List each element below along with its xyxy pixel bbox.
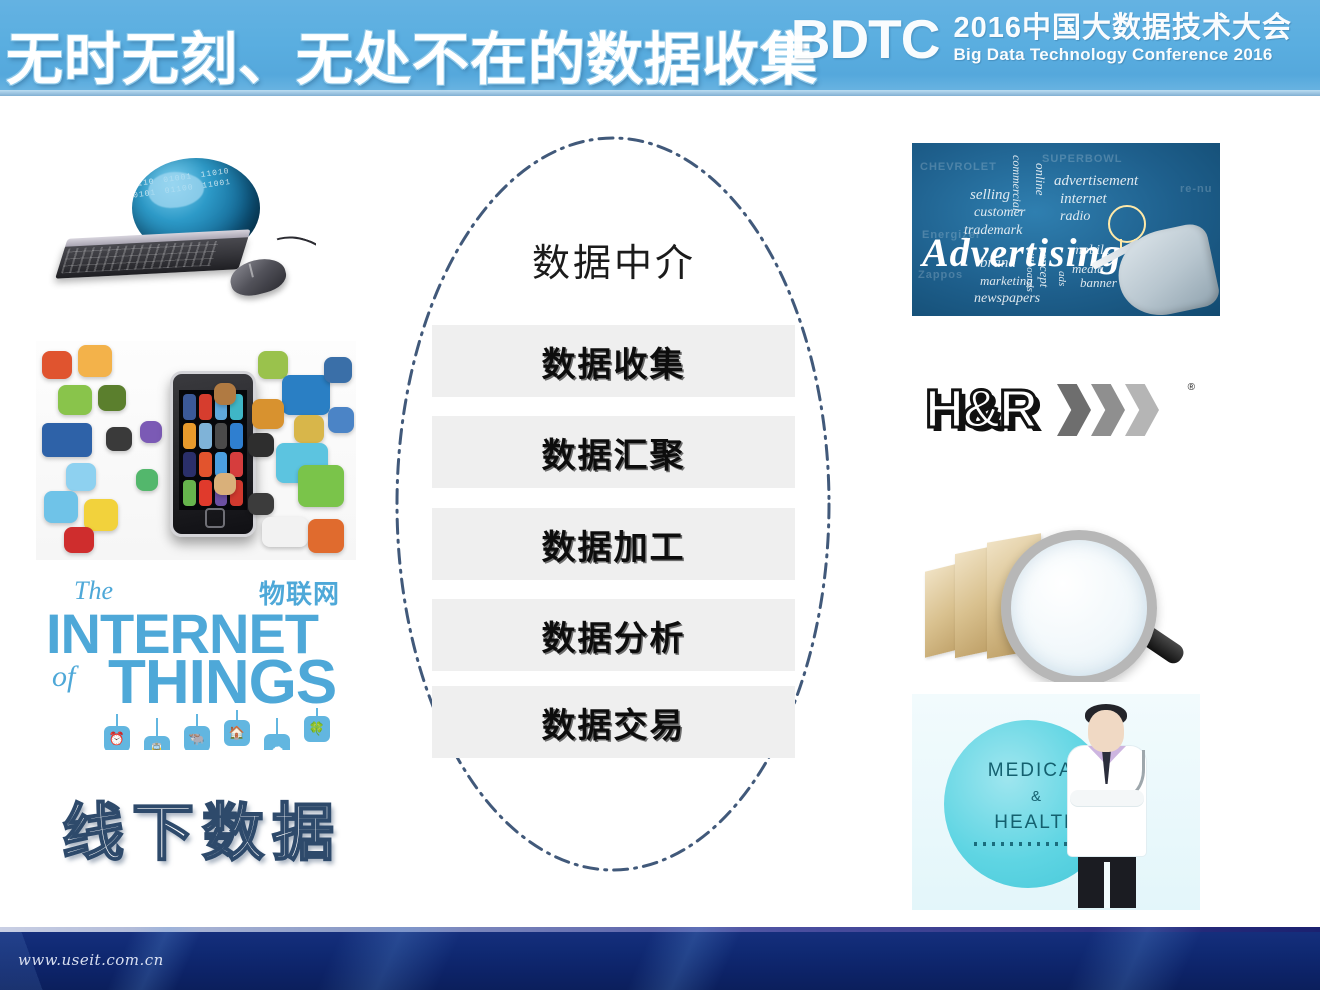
app-icon — [214, 473, 236, 495]
hr-chevron — [1125, 384, 1159, 436]
binary-globe-keyboard-mouse-photo — [48, 152, 316, 312]
doctor-arms — [1070, 790, 1144, 806]
advertising-word-cloud-photo: CHEVROLET SUPERBOWL Energizer Zappos OXO… — [912, 143, 1220, 316]
stage-box-aggregation[interactable]: 数据汇聚 — [432, 416, 795, 488]
app-icon — [66, 463, 96, 491]
app-icon — [42, 351, 72, 379]
bdtc-conference-logo: BDTC 2016中国大数据技术大会 Big Data Technology C… — [791, 8, 1292, 70]
iot-train-icon: 🚊 — [144, 736, 170, 750]
hr-block-logo: H&R ® — [925, 378, 1197, 446]
app-icon — [214, 383, 236, 405]
adv-word: online — [1032, 163, 1048, 196]
medical-health-doctor-illustration: MEDICAL & HEALTH — [912, 694, 1200, 910]
hr-chevron — [1057, 384, 1091, 436]
adv-word: internet — [1060, 191, 1107, 208]
bdtc-logo-chinese: 2016中国大数据技术大会 — [953, 12, 1292, 44]
iot-cow-icon: 🐃 — [184, 726, 210, 750]
stage-box-collection[interactable]: 数据收集 — [432, 325, 795, 397]
adv-word: commercial — [1009, 155, 1024, 211]
stage-label: 数据加工 — [542, 520, 686, 569]
keyboard-icon — [55, 235, 249, 278]
app-icon — [106, 427, 132, 451]
footer-streak — [316, 927, 464, 990]
app-icon — [308, 519, 344, 553]
adv-main-word: Advertising — [922, 229, 1122, 276]
bdtc-logo-mark: BDTC — [791, 8, 940, 70]
phone-screen — [179, 390, 247, 510]
stage-box-processing[interactable]: 数据加工 — [432, 508, 795, 580]
hr-chevron — [1091, 384, 1125, 436]
adv-faint-logo: SUPERBOWL — [1042, 153, 1123, 165]
stage-box-analysis[interactable]: 数据分析 — [432, 599, 795, 671]
internet-of-things-logo: The 物联网 INTERNET of THINGS ⏰ 🚊 🐃 🏠 ☁ 🍀 — [36, 568, 356, 750]
adv-word: banner — [1080, 275, 1117, 291]
app-icon-32 — [298, 465, 344, 507]
app-icon — [136, 469, 158, 491]
app-icon — [324, 357, 352, 383]
slide-canvas: 无时无刻、无处不在的数据收集 BDTC 2016中国大数据技术大会 Big Da… — [0, 0, 1320, 990]
page-title: 无时无刻、无处不在的数据收集 — [6, 14, 818, 96]
footer-url[interactable]: www.useit.com.cn — [18, 951, 164, 969]
iot-alarm-clock-icon: ⏰ — [104, 726, 130, 750]
app-icon-urbanspoon — [42, 423, 92, 457]
app-icon — [84, 499, 118, 531]
adv-word: newspapers — [974, 291, 1040, 307]
app-icon — [248, 493, 274, 515]
adv-word: radio — [1060, 209, 1090, 225]
doctor-head — [1088, 710, 1124, 752]
app-icon — [44, 491, 78, 523]
app-icon — [294, 415, 324, 443]
stage-label: 数据汇聚 — [542, 428, 686, 477]
adv-word: selling — [970, 187, 1010, 204]
slide-footer: www.useit.com.cn — [0, 927, 1320, 990]
adv-word: advertisement — [1054, 173, 1138, 190]
app-icon — [78, 345, 112, 377]
iot-house-icon: 🏠 — [224, 720, 250, 746]
doctor-legs — [1078, 852, 1136, 908]
registered-mark-icon: ® — [1188, 382, 1195, 393]
magnifier-lens-icon — [1001, 530, 1157, 682]
hr-logo-text: H&R — [925, 378, 1036, 440]
iot-leaf-icon: 🍀 — [304, 716, 330, 742]
app-icon-amazon — [282, 375, 330, 415]
smartphone-apps-photo — [36, 341, 356, 560]
stage-label: 数据交易 — [542, 698, 686, 747]
iot-stem — [156, 718, 158, 738]
offline-data-wordart: 线下数据 — [62, 782, 342, 872]
stage-label: 数据分析 — [542, 611, 686, 660]
iot-things-label: THINGS — [108, 652, 336, 714]
app-icon — [58, 385, 92, 415]
app-icon — [248, 433, 274, 457]
hub-title: 数据中介 — [432, 232, 796, 287]
adv-faint-logo: CHEVROLET — [920, 161, 997, 173]
app-icon — [258, 351, 288, 379]
bdtc-logo-english: Big Data Technology Conference 2016 — [953, 44, 1292, 66]
app-icon — [140, 421, 162, 443]
slide-header: 无时无刻、无处不在的数据收集 BDTC 2016中国大数据技术大会 Big Da… — [0, 0, 1320, 96]
footer-streak — [1066, 927, 1204, 990]
phone-home-button — [205, 508, 225, 528]
iot-of-label: of — [52, 660, 75, 694]
magnifier-folders-photo — [915, 512, 1215, 682]
footer-streak — [626, 927, 744, 990]
smartphone-icon — [170, 371, 256, 537]
app-icon — [64, 527, 94, 553]
app-icon — [252, 399, 284, 429]
app-icon — [98, 385, 126, 411]
iot-cloud-icon: ☁ — [264, 734, 290, 750]
bdtc-logo-textblock: 2016中国大数据技术大会 Big Data Technology Confer… — [953, 8, 1292, 66]
app-icon-check — [262, 517, 308, 547]
app-icon — [328, 407, 354, 433]
adv-faint-logo: re-nu — [1180, 183, 1213, 195]
stage-label: 数据收集 — [542, 337, 686, 386]
stage-box-trading[interactable]: 数据交易 — [432, 686, 795, 758]
